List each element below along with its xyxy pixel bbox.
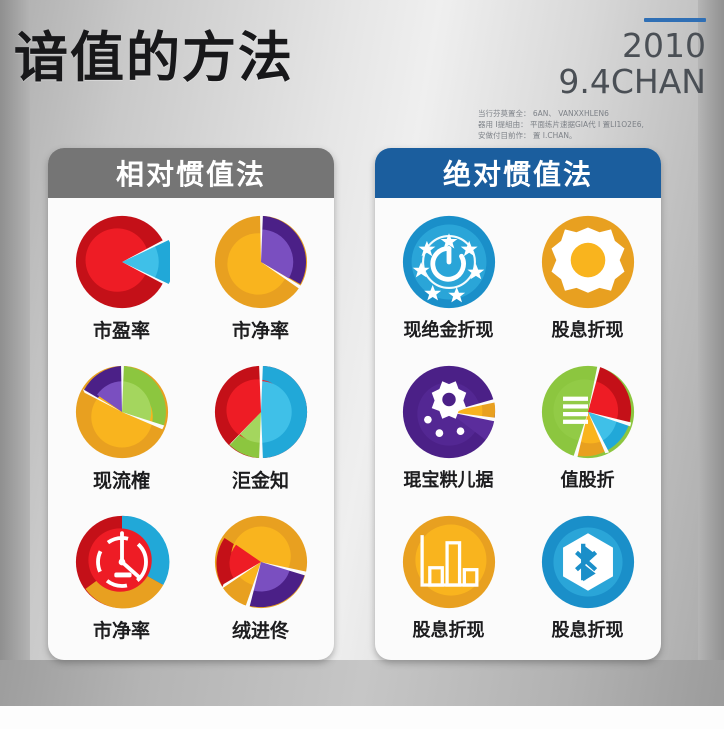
grid-item[interactable]: 股息折现 [518, 214, 657, 364]
panel-absolute-valuation: 绝对惯值法 [375, 148, 661, 660]
grid-item-label: 市净率 [232, 316, 289, 343]
grid-item-label: 股息折现 [552, 316, 624, 342]
background-footer [0, 706, 724, 729]
header-meta-line: 器用 I提組由： 平面练片速据GIA代 I 置LI1O2E6, [478, 119, 706, 130]
header-meta-lines: 当行芬莫置全： 6AN、 VANXXHLEN6 器用 I提組由： 平面练片速据G… [476, 108, 706, 141]
grid-item[interactable]: 股息折现 [379, 514, 518, 660]
header-meta-line: 当行芬莫置全： 6AN、 VANXXHLEN6 [478, 108, 706, 119]
grid-item[interactable]: 股息折现 [518, 514, 657, 660]
grid-item[interactable]: 市净率 [52, 514, 191, 660]
grid-item-label: 市净率 [93, 616, 150, 643]
grid-item[interactable]: 现绝金折现 [379, 214, 518, 364]
grid-item[interactable]: 市盈率 [52, 214, 191, 364]
grid-item-label: 值股折 [561, 466, 615, 492]
pie-orange-red-purple-icon [213, 514, 309, 610]
pie-green-doc-icon [540, 364, 636, 460]
grid-item-label: 现绝金折现 [404, 316, 494, 342]
grid-item-label: 绒进佟 [232, 616, 289, 643]
background-left-edge [0, 0, 30, 706]
pie-orange-green-purple-icon [74, 364, 170, 460]
panel-header-relative: 相对惯值法 [48, 148, 334, 198]
panel-grid-absolute: 现绝金折现 股息折现 [375, 198, 661, 660]
background-bottom-band [0, 660, 724, 706]
header-year: 2010 9.4CHAN [476, 28, 706, 100]
page-title: 谙值的方法 [14, 28, 294, 88]
purple-gear-network-icon [401, 364, 497, 460]
panel-header-absolute: 绝对惯值法 [375, 148, 661, 198]
grid-item-label: 现流榷 [93, 466, 150, 493]
grid-item-label: 股息折现 [552, 616, 624, 642]
grid-item-label: 洰金知 [232, 466, 289, 493]
pie-red-green-cyan-icon [213, 364, 309, 460]
pie-orange-purple-icon [213, 214, 309, 310]
orange-gear-icon [540, 214, 636, 310]
blue-star-circle-icon [401, 214, 497, 310]
panel-relative-valuation: 相对惯值法 市盈率 [48, 148, 334, 660]
infographic-canvas: 谙值的方法 2010 9.4CHAN 当行芬莫置全： 6AN、 VANXXHLE… [0, 0, 724, 729]
orange-barchart-icon [401, 514, 497, 610]
grid-item[interactable]: 现流榷 [52, 364, 191, 514]
grid-item[interactable]: 琨宝粠儿据 [379, 364, 518, 514]
pie-red-cyan-icon [74, 214, 170, 310]
grid-item[interactable]: 洰金知 [191, 364, 330, 514]
grid-item-label: 股息折现 [413, 616, 485, 642]
panel-grid-relative: 市盈率 市净率 [48, 198, 334, 660]
accent-rule [644, 18, 706, 22]
blue-hexagon-icon [540, 514, 636, 610]
grid-item[interactable]: 绒进佟 [191, 514, 330, 660]
grid-item-label: 琨宝粠儿据 [404, 466, 494, 492]
grid-item-label: 市盈率 [93, 316, 150, 343]
grid-item[interactable]: 市净率 [191, 214, 330, 364]
header-right-block: 2010 9.4CHAN 当行芬莫置全： 6AN、 VANXXHLEN6 器用 … [476, 18, 706, 141]
grid-item[interactable]: 值股折 [518, 364, 657, 514]
clock-target-icon [74, 514, 170, 610]
header-meta-line: 安做付目前作： 置 I.CHAN。 [478, 130, 706, 141]
